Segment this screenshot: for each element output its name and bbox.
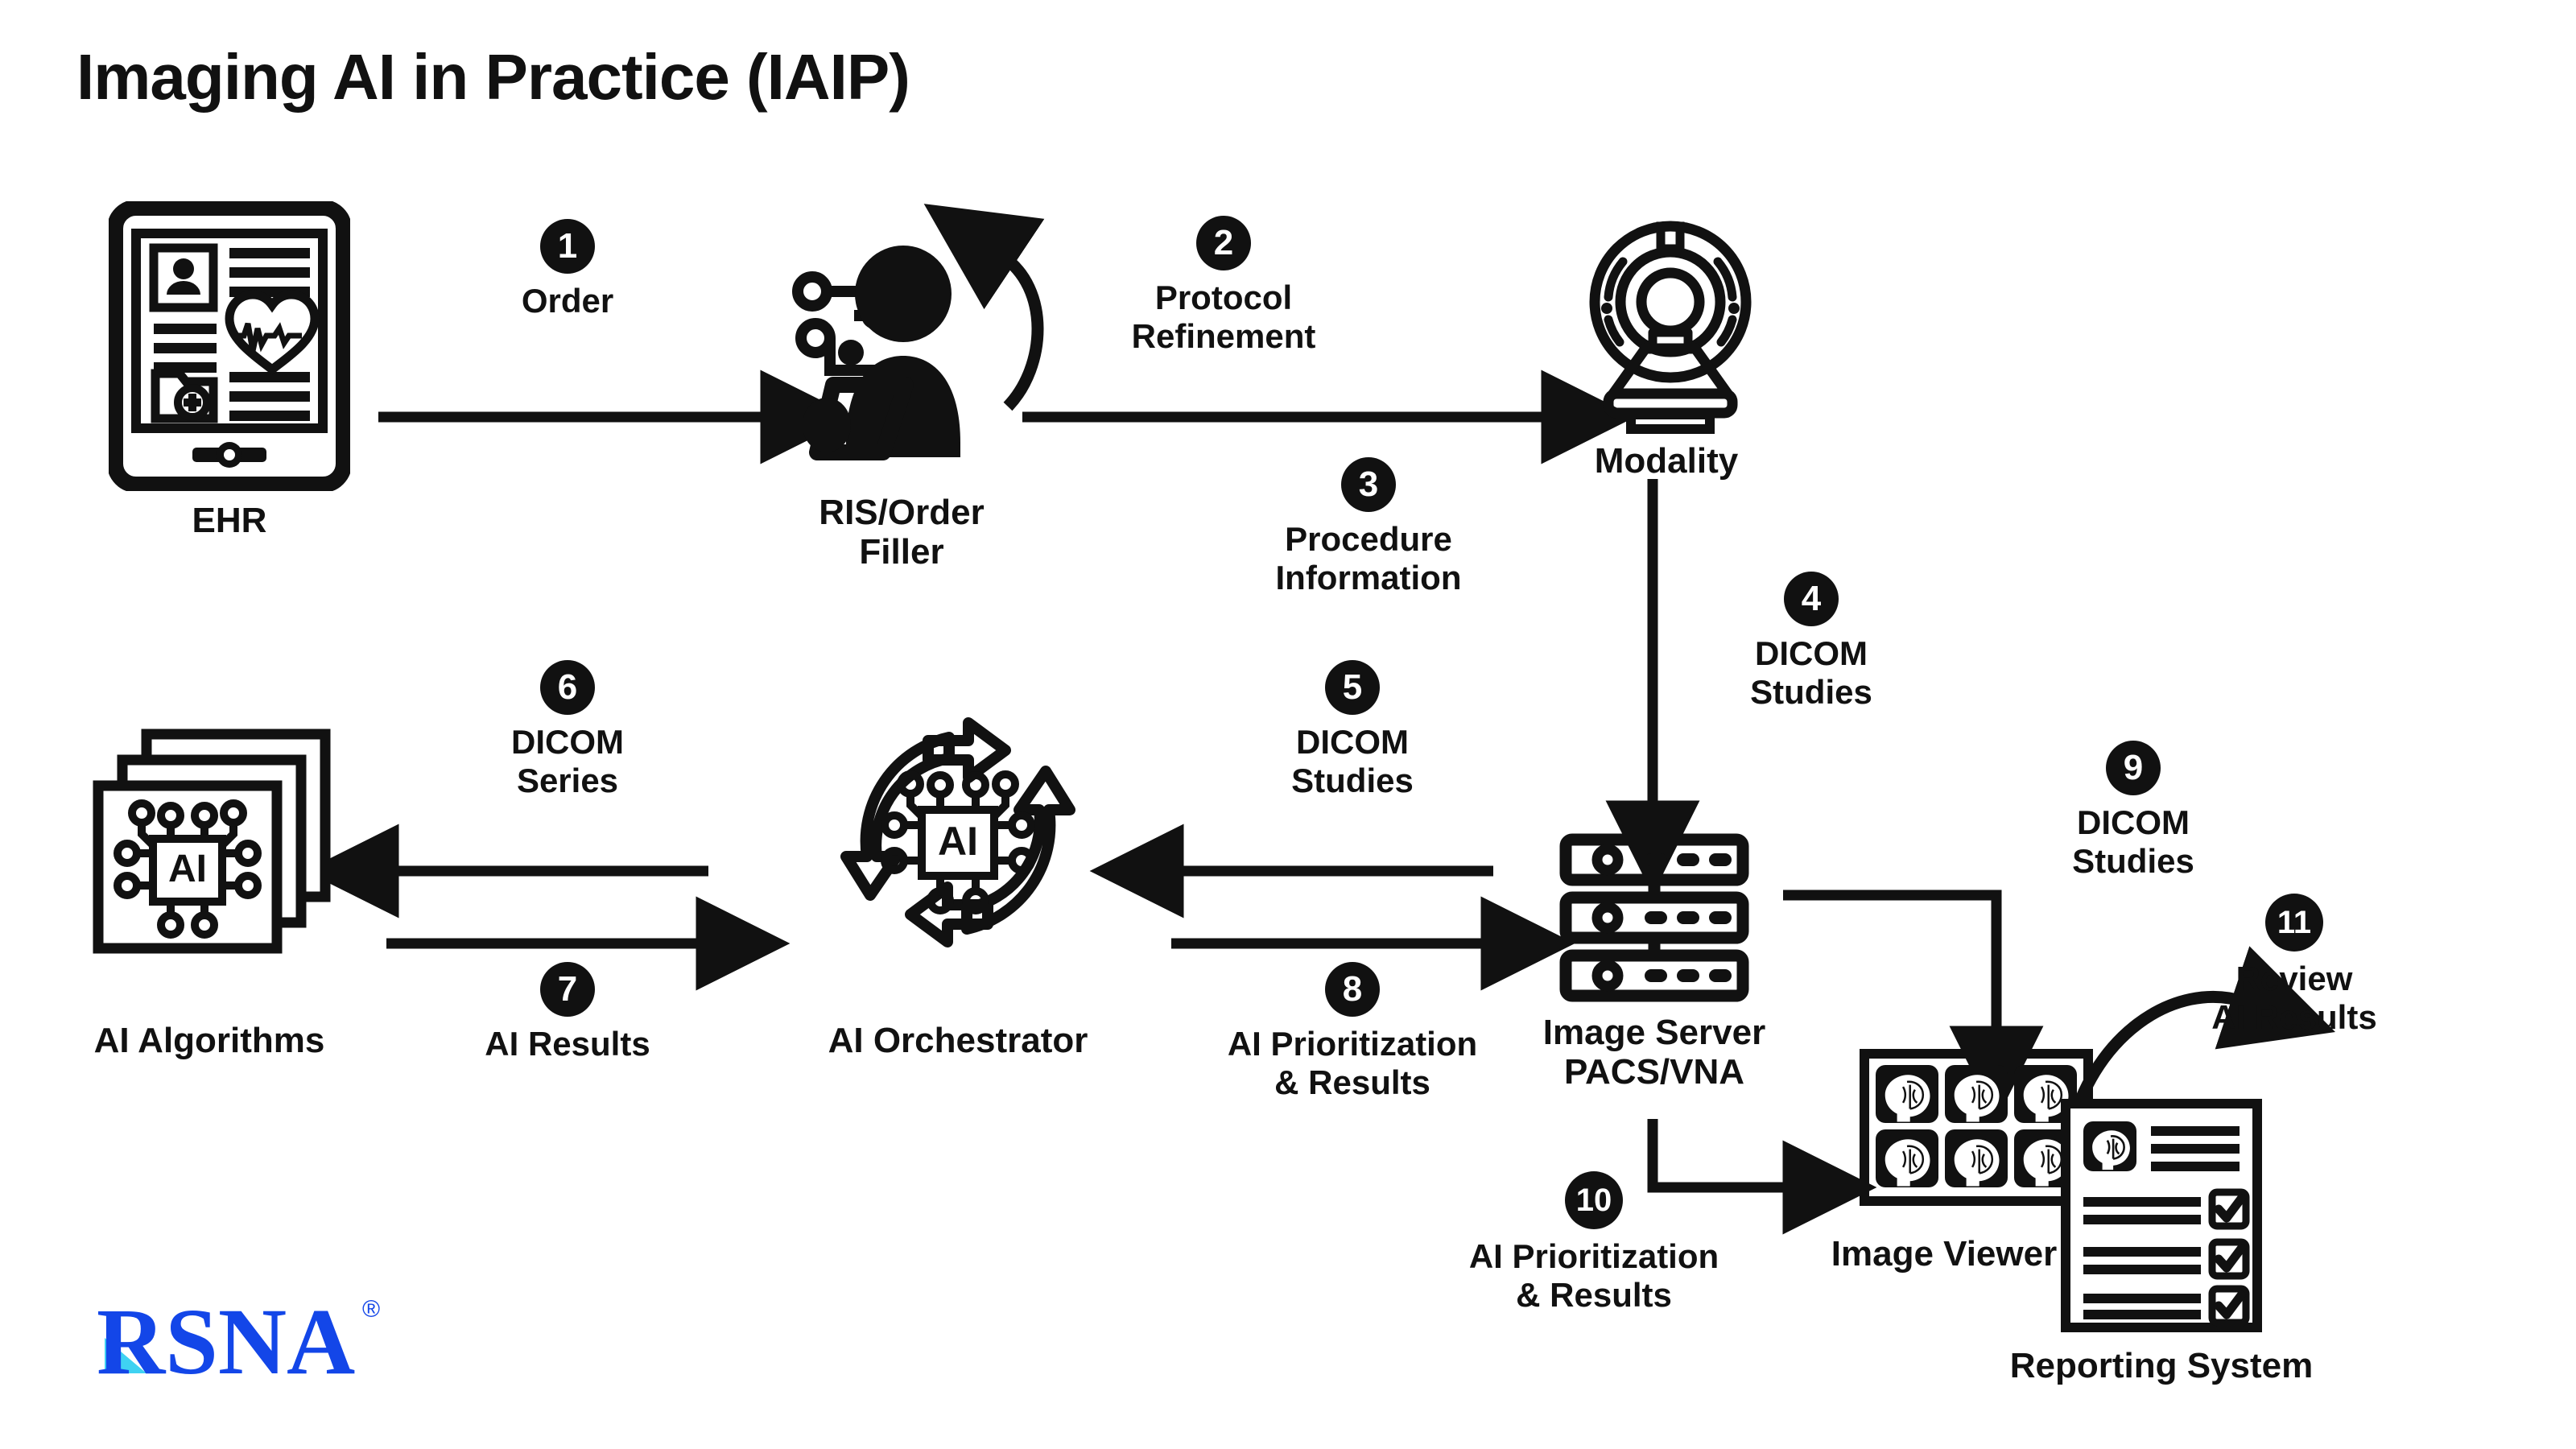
step-badge: 11 [2265, 894, 2323, 952]
node-label-ris: RIS/Order Filler [785, 493, 1018, 572]
tablet-ehr-icon [109, 201, 350, 495]
step-label: DICOM Studies [2013, 803, 2254, 881]
step-8: 8 AI Prioritization & Results [1171, 962, 1534, 1102]
step-label: AI Prioritization & Results [1171, 1025, 1534, 1102]
stacked-ai-chips-icon: AI [89, 724, 338, 962]
node-label-image-server: Image Server PACS/VNA [1513, 1013, 1795, 1092]
node-label-ehr: EHR [109, 501, 350, 540]
step-label: DICOM Series [447, 723, 688, 800]
step-badge: 2 [1196, 216, 1251, 270]
step-label: AI Results [447, 1025, 688, 1063]
step-badge: 4 [1784, 572, 1839, 626]
person-workstation-icon [785, 242, 1018, 479]
step-badge: 5 [1325, 660, 1380, 715]
node-label-ai-algorithms: AI Algorithms [64, 1021, 354, 1060]
step-11: 11 Review AI Results [2165, 894, 2423, 1037]
step-badge: 7 [540, 962, 595, 1017]
node-label-reporting: Reporting System [2008, 1346, 2314, 1385]
step-badge: 8 [1325, 962, 1380, 1017]
step-1: 1 Order [463, 219, 672, 320]
ct-scanner-icon [1570, 213, 1771, 439]
registered-mark: ® [362, 1296, 380, 1323]
diagram-canvas: Imaging AI in Practice (IAIP) [0, 0, 2576, 1449]
node-label-modality: Modality [1546, 441, 1787, 481]
chip-ai-text: AI [168, 848, 207, 890]
step-label: Protocol Refinement [1071, 279, 1377, 356]
step-label: DICOM Studies [1690, 634, 1932, 712]
arrow-server-to-viewer [1783, 895, 1996, 1038]
step-6: 6 DICOM Series [447, 660, 688, 800]
ai-chip-cycle-icon: AI [833, 708, 1083, 962]
step-badge: 1 [540, 219, 595, 274]
brain-image-grid-icon [1860, 1049, 2093, 1210]
step-label: DICOM Studies [1232, 723, 1473, 800]
report-checklist-icon [2061, 1099, 2262, 1336]
node-label-orchestrator: AI Orchestrator [797, 1021, 1119, 1060]
step-label: Procedure Information [1207, 520, 1529, 597]
step-badge: 10 [1565, 1171, 1623, 1229]
step-label: Review AI Results [2165, 960, 2423, 1037]
step-7: 7 AI Results [447, 962, 688, 1063]
step-2: 2 Protocol Refinement [1071, 216, 1377, 356]
rsna-wordmark: RSNA [97, 1289, 355, 1383]
step-label: AI Prioritization & Results [1417, 1237, 1771, 1315]
step-badge: 9 [2106, 741, 2161, 795]
step-4: 4 DICOM Studies [1690, 572, 1932, 712]
step-5: 5 DICOM Studies [1232, 660, 1473, 800]
step-10: 10 AI Prioritization & Results [1417, 1171, 1771, 1315]
rsna-logo: RSNA ® [97, 1278, 402, 1387]
server-rack-icon [1558, 833, 1751, 1006]
step-3: 3 Procedure Information [1207, 457, 1529, 597]
step-label: Order [463, 282, 672, 320]
step-9: 9 DICOM Studies [2013, 741, 2254, 881]
chip-ai-text: AI [938, 819, 978, 864]
step-badge: 3 [1341, 457, 1396, 512]
node-label-image-viewer: Image Viewer [1807, 1234, 2081, 1274]
step-badge: 6 [540, 660, 595, 715]
